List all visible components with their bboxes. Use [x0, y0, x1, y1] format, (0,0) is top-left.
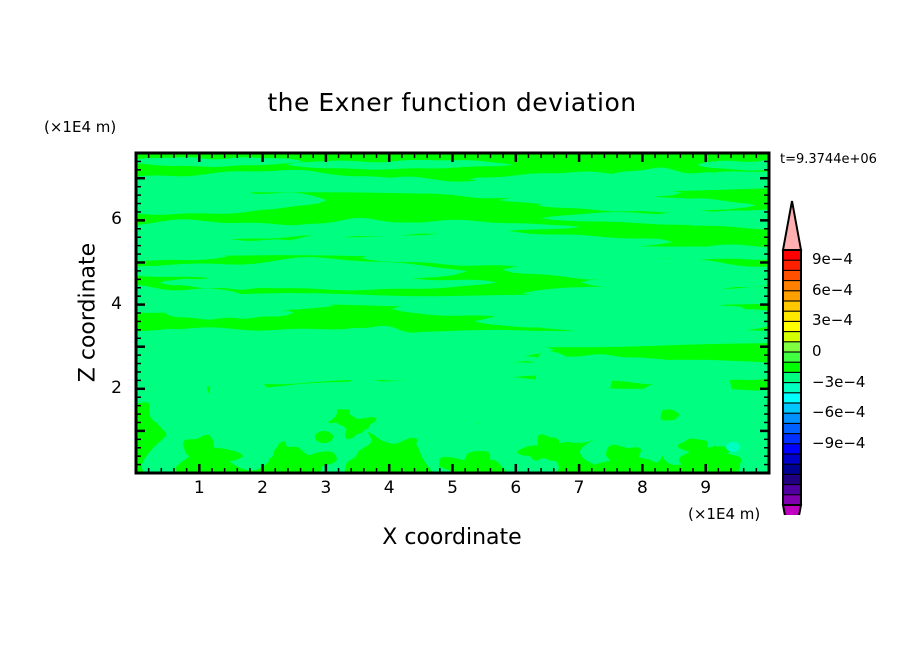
contour-plot-area: [0, 0, 904, 654]
colorbar: [770, 195, 820, 515]
